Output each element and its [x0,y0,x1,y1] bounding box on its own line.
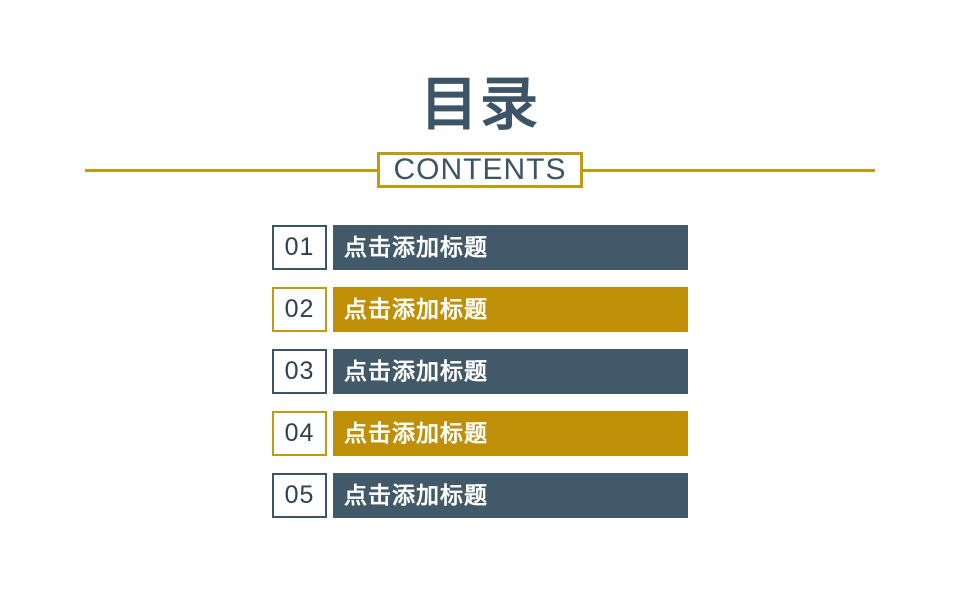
contents-item-number-01: 01 [272,225,327,270]
contents-item-05[interactable]: 05 点击添加标题 [272,473,688,518]
divider-with-badge: CONTENTS [85,150,875,190]
contents-item-label-05: 点击添加标题 [344,483,488,508]
contents-item-label-03: 点击添加标题 [344,359,488,384]
contents-item-number-02: 02 [272,287,327,332]
contents-list: 01 点击添加标题 02 点击添加标题 03 点击添加标题 04 点击添加标题 … [272,225,688,518]
contents-item-number-03: 03 [272,349,327,394]
contents-item-bar-03[interactable]: 点击添加标题 [333,349,688,394]
contents-item-bar-04[interactable]: 点击添加标题 [333,411,688,456]
divider-line-right [583,169,875,172]
slide-canvas: 目录 CONTENTS 01 点击添加标题 02 点击添加标题 03 点击添加标… [0,0,960,600]
contents-item-01[interactable]: 01 点击添加标题 [272,225,688,270]
contents-item-04[interactable]: 04 点击添加标题 [272,411,688,456]
contents-item-label-04: 点击添加标题 [344,421,488,446]
contents-item-02[interactable]: 02 点击添加标题 [272,287,688,332]
divider-line-left [85,169,377,172]
contents-item-bar-05[interactable]: 点击添加标题 [333,473,688,518]
contents-item-number-05: 05 [272,473,327,518]
contents-item-bar-01[interactable]: 点击添加标题 [333,225,688,270]
contents-badge-label: CONTENTS [394,154,567,186]
contents-item-bar-02[interactable]: 点击添加标题 [333,287,688,332]
contents-item-03[interactable]: 03 点击添加标题 [272,349,688,394]
page-title: 目录 [0,74,960,136]
contents-item-number-04: 04 [272,411,327,456]
contents-item-label-02: 点击添加标题 [344,297,488,322]
contents-item-label-01: 点击添加标题 [344,235,488,260]
contents-badge: CONTENTS [377,152,583,188]
